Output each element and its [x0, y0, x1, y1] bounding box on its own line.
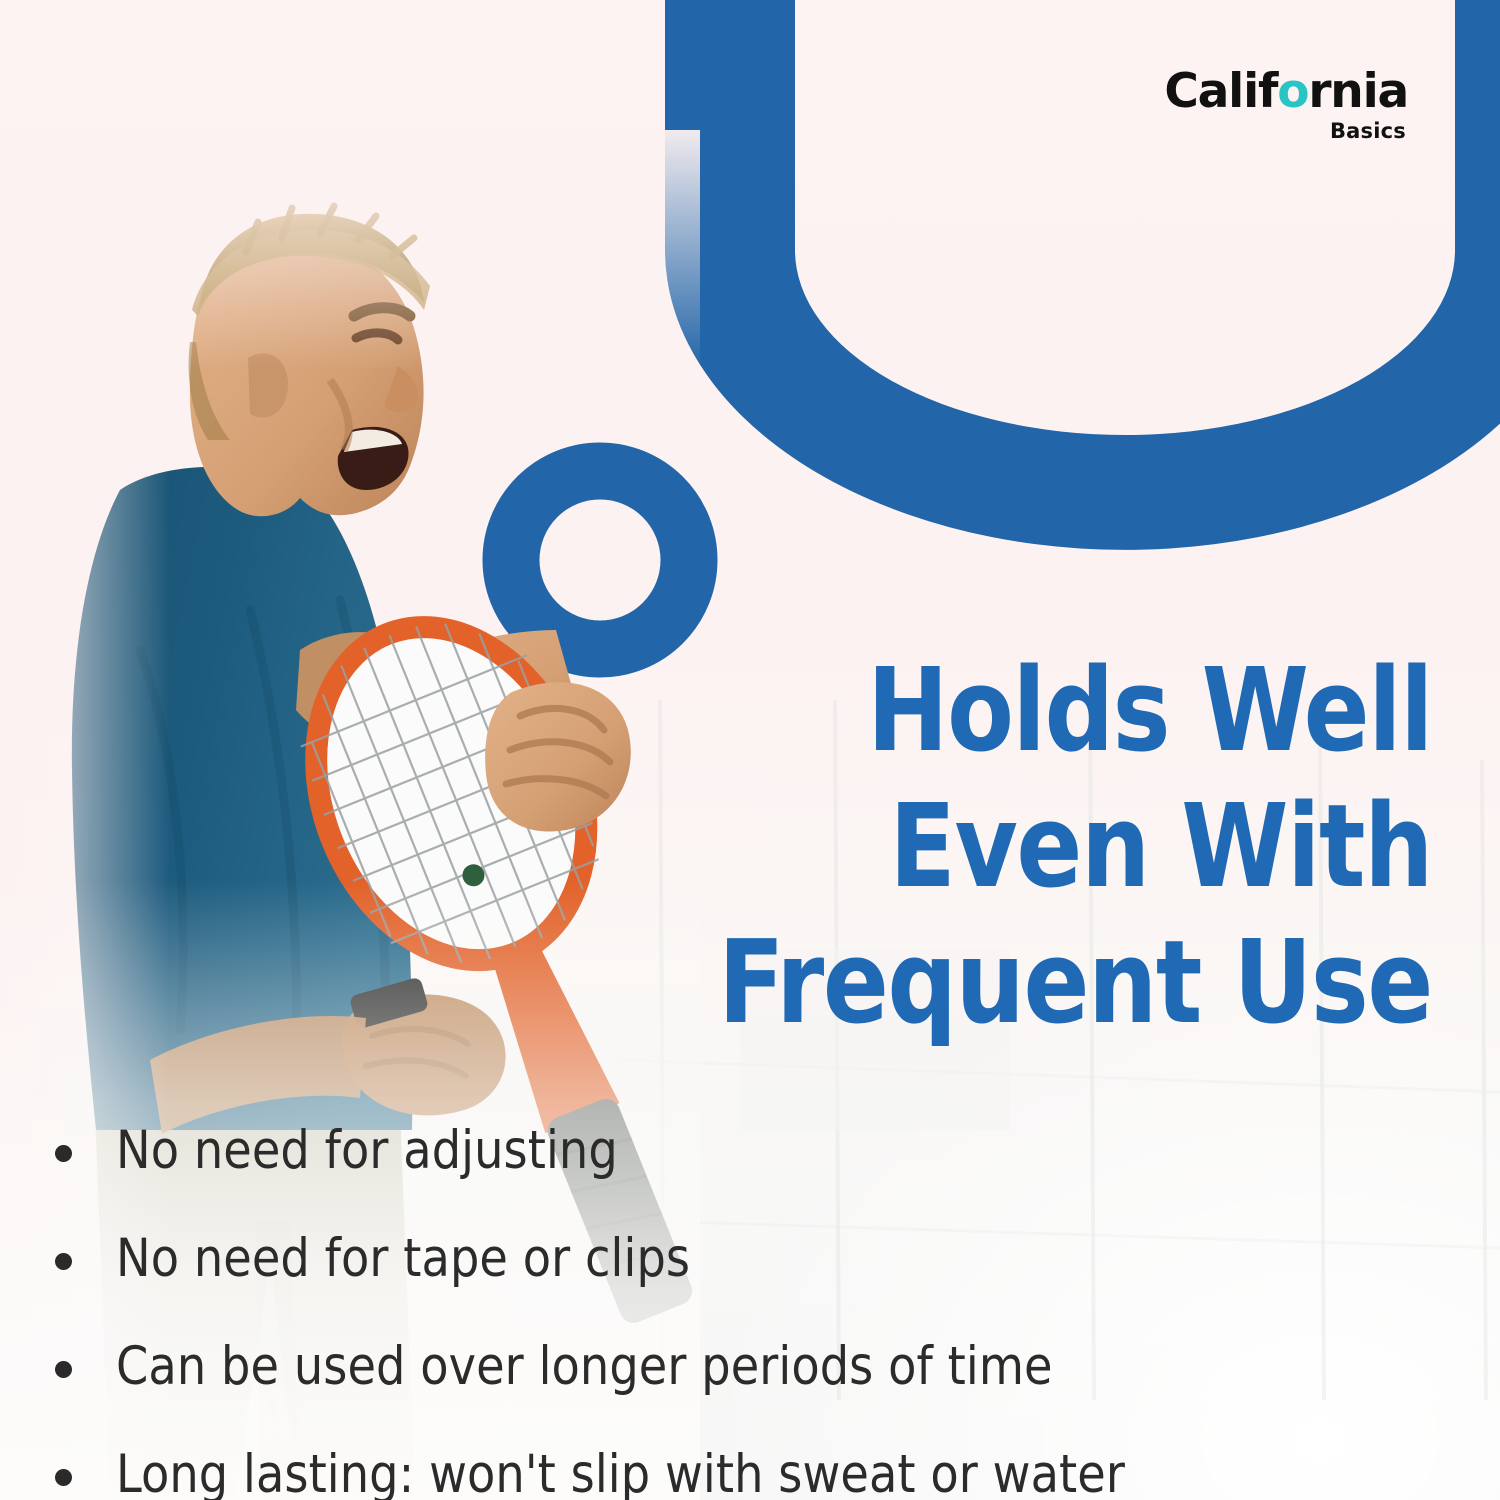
bullet-text: No need for adjusting	[116, 1122, 618, 1179]
headline-line-1: Holds Well	[680, 655, 1432, 769]
list-item: No need for tape or clips	[55, 1230, 1455, 1292]
list-item: Long lasting: won't slip with sweat or w…	[55, 1446, 1455, 1500]
feature-bullet-list: No need for adjusting No need for tape o…	[55, 1122, 1455, 1500]
list-item: Can be used over longer periods of time	[55, 1338, 1455, 1400]
brand-name: California	[1164, 68, 1408, 115]
promo-image-canvas: California Basics Holds Well Even With F…	[0, 0, 1500, 1500]
bullet-text: Long lasting: won't slip with sweat or w…	[116, 1446, 1125, 1500]
bullet-dot-icon	[55, 1253, 72, 1270]
headline: Holds Well Even With Frequent Use	[632, 655, 1432, 1041]
bullet-dot-icon	[55, 1469, 72, 1486]
brand-logo: California Basics	[1164, 68, 1408, 142]
bullet-dot-icon	[55, 1361, 72, 1378]
list-item: No need for adjusting	[55, 1122, 1455, 1184]
headline-line-2: Even With	[680, 791, 1432, 905]
bullet-text: No need for tape or clips	[116, 1230, 690, 1287]
brand-subtitle: Basics	[1164, 121, 1406, 142]
headline-line-3: Frequent Use	[680, 927, 1432, 1041]
brand-name-part2: rnia	[1308, 64, 1408, 119]
bullet-dot-icon	[55, 1145, 72, 1162]
brand-name-part1: Calif	[1164, 64, 1277, 119]
bullet-text: Can be used over longer periods of time	[116, 1338, 1053, 1395]
brand-name-accent-o: o	[1277, 64, 1308, 119]
